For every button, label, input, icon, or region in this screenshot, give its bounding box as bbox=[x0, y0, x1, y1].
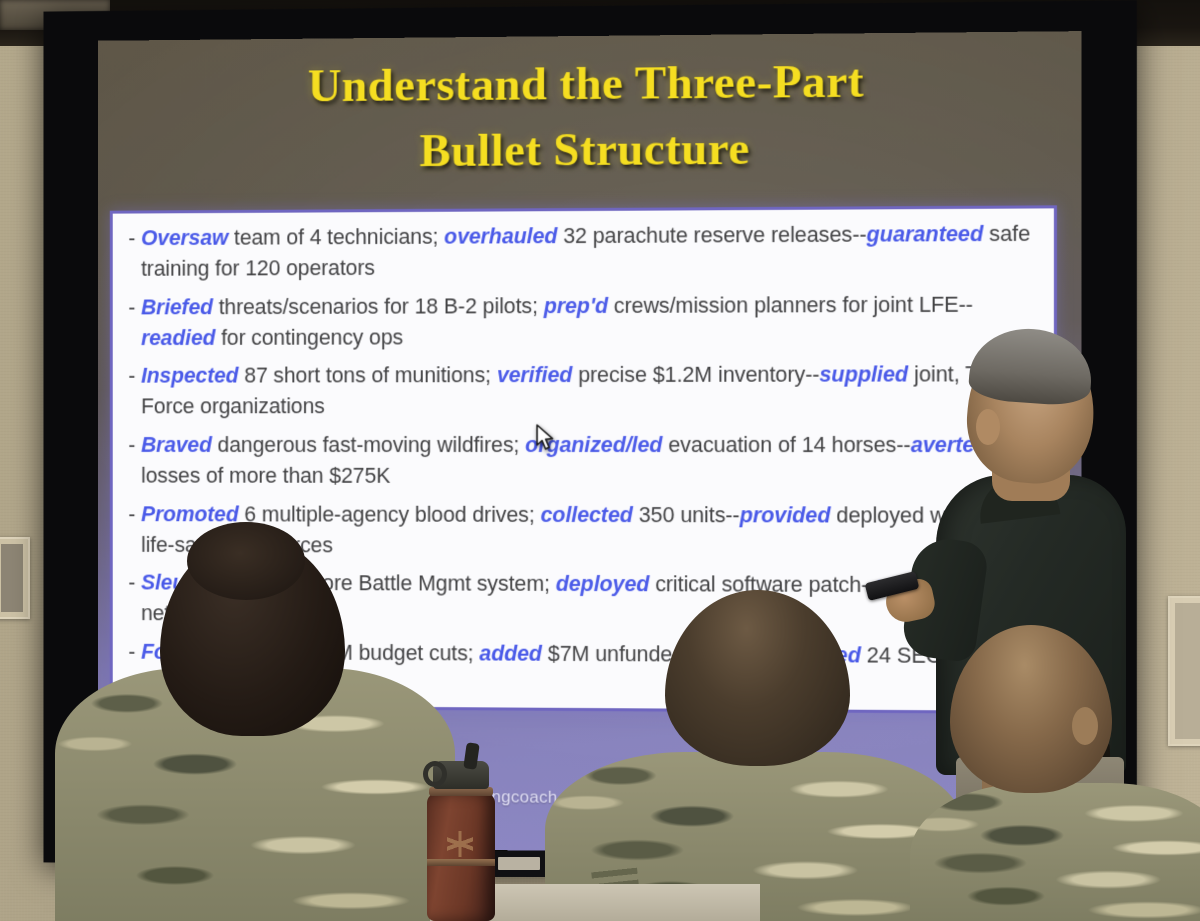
attendee-front-center bbox=[555, 590, 955, 921]
instructor-ear bbox=[976, 409, 1000, 445]
slide-title-line-1: Understand the Three-Part bbox=[98, 47, 1081, 121]
wall-picture-left bbox=[0, 537, 30, 619]
slide-title: Understand the Three-Part Bullet Structu… bbox=[98, 47, 1081, 186]
bullet-keyword: provided bbox=[740, 503, 831, 527]
bullet-text: - bbox=[128, 295, 141, 319]
bullet-text: 6 multiple-agency blood drives; bbox=[239, 502, 541, 526]
bullet-keyword: Inspected bbox=[141, 364, 239, 388]
bottle-handle bbox=[423, 761, 447, 787]
bullet-text: team of 4 technicians; bbox=[228, 225, 444, 250]
bullet-keyword: prep'd bbox=[544, 294, 608, 318]
bullet-text: dangerous fast-moving wildfires; bbox=[212, 433, 525, 457]
bullet-keyword: added bbox=[479, 641, 542, 665]
bullet-text: - bbox=[128, 226, 141, 250]
mouse-pointer-icon bbox=[536, 424, 556, 452]
bullet-text: - bbox=[128, 433, 141, 457]
attendee-center-head bbox=[665, 590, 850, 766]
bullet-keyword: overhauled bbox=[444, 224, 557, 249]
bullet-text: for contingency ops bbox=[215, 325, 403, 349]
attendee-right-ear bbox=[1072, 707, 1098, 745]
attendee-right-uniform bbox=[910, 783, 1200, 921]
attendee-left-hair bbox=[187, 522, 305, 600]
bullet-keyword: collected bbox=[541, 502, 633, 526]
bottle-band bbox=[427, 859, 495, 866]
bottle-logo bbox=[447, 831, 473, 857]
slide-title-line-2: Bullet Structure bbox=[98, 114, 1081, 187]
screen-label-plate bbox=[498, 857, 540, 870]
attendee-front-right bbox=[930, 625, 1200, 921]
bottle-body bbox=[427, 793, 495, 921]
bullet-keyword: guaranteed bbox=[867, 222, 984, 247]
bullet-keyword: Briefed bbox=[141, 295, 213, 319]
classroom-scene: Understand the Three-Part Bullet Structu… bbox=[0, 0, 1200, 921]
bullet-text: - bbox=[128, 364, 141, 388]
bullet-keyword: Braved bbox=[141, 433, 212, 457]
bullet-text: crews/mission planners for joint LFE-- bbox=[608, 292, 973, 317]
bullet-text: 32 parachute reserve releases-- bbox=[557, 223, 866, 249]
attendee-front-left bbox=[55, 536, 455, 921]
bullet-2: - Briefed threats/scenarios for 18 B-2 p… bbox=[128, 289, 1041, 354]
bullet-text: 350 units-- bbox=[633, 503, 740, 527]
bullet-text: - bbox=[128, 502, 141, 526]
bullet-text: threats/scenarios for 18 B-2 pilots; bbox=[213, 294, 544, 319]
bullet-keyword: Oversaw bbox=[141, 226, 228, 250]
bullet-text: precise $1.2M inventory-- bbox=[572, 363, 819, 387]
bullet-keyword: readied bbox=[141, 326, 215, 350]
bullet-text: evacuation of 14 horses-- bbox=[662, 433, 910, 457]
water-bottle bbox=[419, 747, 503, 921]
bullet-keyword: supplied bbox=[819, 363, 908, 387]
bullet-keyword: Promoted bbox=[141, 502, 239, 526]
instructor-hair bbox=[968, 325, 1095, 407]
bullet-3: - Inspected 87 short tons of munitions; … bbox=[128, 359, 1041, 422]
bullet-text: 87 short tons of munitions; bbox=[239, 363, 497, 387]
bullet-1: - Oversaw team of 4 technicians; overhau… bbox=[128, 219, 1041, 285]
bullet-text: losses of more than $275K bbox=[141, 464, 390, 488]
bullet-keyword: verified bbox=[497, 363, 572, 387]
bullet-4: - Braved dangerous fast-moving wildfires… bbox=[128, 430, 1041, 493]
